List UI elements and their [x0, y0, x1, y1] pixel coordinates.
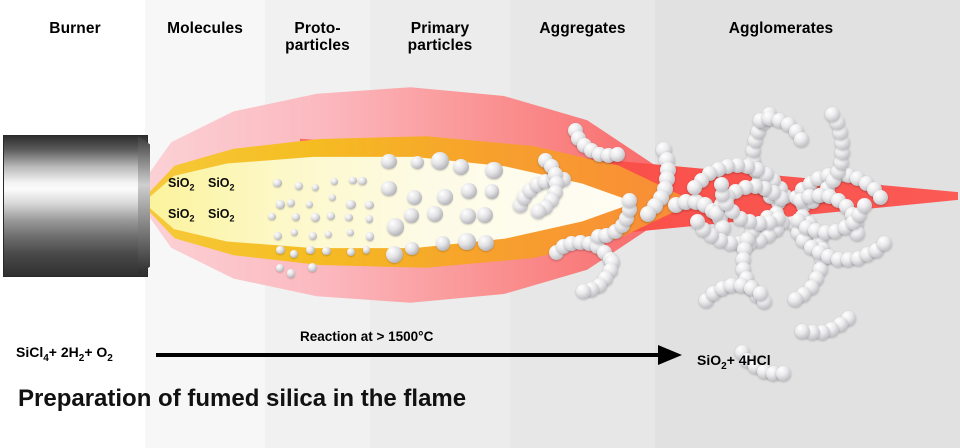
- reaction-condition-label: Reaction at > 1500°C: [300, 329, 433, 344]
- particle: [461, 183, 477, 199]
- particle: [366, 232, 375, 241]
- particle: [405, 242, 419, 256]
- particle: [431, 152, 449, 170]
- chain-bead: [753, 286, 768, 301]
- particle: [325, 231, 332, 238]
- molecule-label-2: SiO2: [208, 176, 235, 193]
- particle: [268, 213, 275, 220]
- particle: [347, 248, 355, 256]
- burner-nozzle-lip: [138, 136, 150, 275]
- header-primary-particles: Primaryparticles: [371, 20, 509, 55]
- particle: [387, 218, 404, 235]
- products-formula: SiO2+ 4HCl: [697, 352, 771, 372]
- chain-bead: [622, 193, 637, 208]
- molecule-label-1: SiO2: [168, 176, 195, 193]
- particle: [437, 189, 453, 205]
- particle: [485, 162, 503, 180]
- particle: [276, 246, 284, 254]
- chain-bead: [788, 292, 803, 307]
- chain-bead: [576, 284, 591, 299]
- particle: [306, 246, 315, 255]
- particle: [273, 179, 281, 187]
- diagram-canvas: SiO2 SiO2 SiO2 SiO2 Burner Molecules Pro…: [0, 0, 960, 448]
- particle: [292, 213, 300, 221]
- header-molecules: Molecules: [146, 20, 264, 37]
- header-agglomerates: Agglomerates: [656, 20, 906, 37]
- particle: [404, 208, 419, 223]
- molecule-label-3: SiO2: [168, 207, 195, 224]
- particle: [308, 263, 317, 272]
- burner-body: [3, 135, 148, 277]
- figure-title: Preparation of fumed silica in the flame: [18, 385, 466, 413]
- particle: [460, 208, 476, 224]
- chain-bead: [690, 214, 705, 229]
- header-proto-particles: Proto-particles: [266, 20, 369, 55]
- particle: [358, 177, 367, 186]
- particle: [381, 154, 396, 169]
- particle: [458, 233, 475, 250]
- chain-bead: [640, 206, 656, 222]
- particle: [287, 269, 296, 278]
- particle: [381, 181, 396, 196]
- reaction-arrow-head-icon: [658, 345, 682, 365]
- reactants-formula: SiCl4+ 2H2+ O2: [16, 344, 113, 364]
- chain-bead: [795, 324, 810, 339]
- header-burner: Burner: [10, 20, 140, 37]
- particle: [276, 264, 284, 272]
- chain-bead: [531, 204, 546, 219]
- particle: [287, 199, 295, 207]
- header-aggregates: Aggregates: [511, 20, 654, 37]
- particle: [327, 212, 335, 220]
- molecule-label-4: SiO2: [208, 207, 235, 224]
- reaction-arrow-line: [156, 353, 662, 357]
- chain-bead: [825, 107, 840, 122]
- particle: [346, 200, 355, 209]
